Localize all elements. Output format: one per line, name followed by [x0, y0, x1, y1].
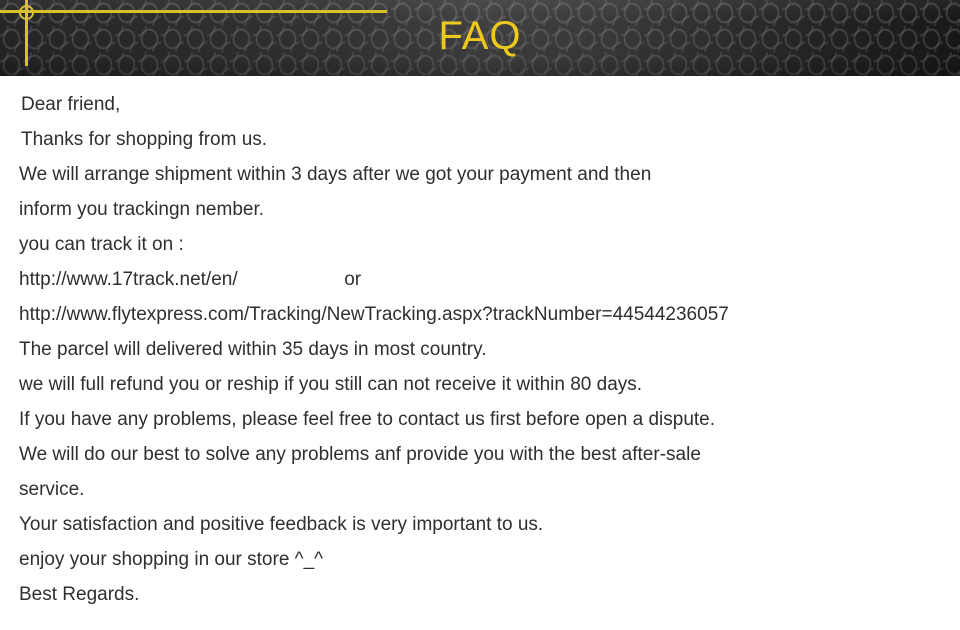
- tracking-url-aggregator[interactable]: http://www.17track.net/en/: [19, 269, 238, 290]
- faq-line-after-sale-1: We will do our best to solve any problem…: [0, 437, 960, 472]
- faq-line-after-sale-2: service.: [0, 472, 960, 507]
- page-title: FAQ: [0, 12, 960, 60]
- tracking-url-carrier[interactable]: http://www.flytexpress.com/Tracking/NewT…: [19, 304, 729, 325]
- faq-line-tracking-url-2: http://www.flytexpress.com/Tracking/NewT…: [0, 297, 960, 332]
- faq-line-refund-policy: we will full refund you or reship if you…: [0, 367, 960, 402]
- faq-line-track-intro: you can track it on :: [0, 227, 960, 262]
- faq-line-inform-tracking: inform you trackingn nember.: [0, 192, 960, 227]
- faq-line-sign-off: Best Regards.: [0, 577, 960, 612]
- faq-line-feedback: Your satisfaction and positive feedback …: [0, 507, 960, 542]
- faq-line-thanks: Thanks for shopping from us.: [0, 122, 960, 157]
- faq-line-contact-first: If you have any problems, please feel fr…: [0, 402, 960, 437]
- faq-line-greeting: Dear friend,: [0, 87, 960, 122]
- url-or-label: or: [344, 269, 361, 290]
- faq-line-shipping-time: We will arrange shipment within 3 days a…: [0, 157, 960, 192]
- faq-body: Dear friend, Thanks for shopping from us…: [0, 76, 960, 612]
- faq-line-tracking-url-1: http://www.17track.net/en/ or: [0, 262, 960, 297]
- faq-line-delivery-window: The parcel will delivered within 35 days…: [0, 332, 960, 367]
- faq-banner: FAQ: [0, 0, 960, 76]
- faq-line-enjoy: enjoy your shopping in our store ^_^: [0, 542, 960, 577]
